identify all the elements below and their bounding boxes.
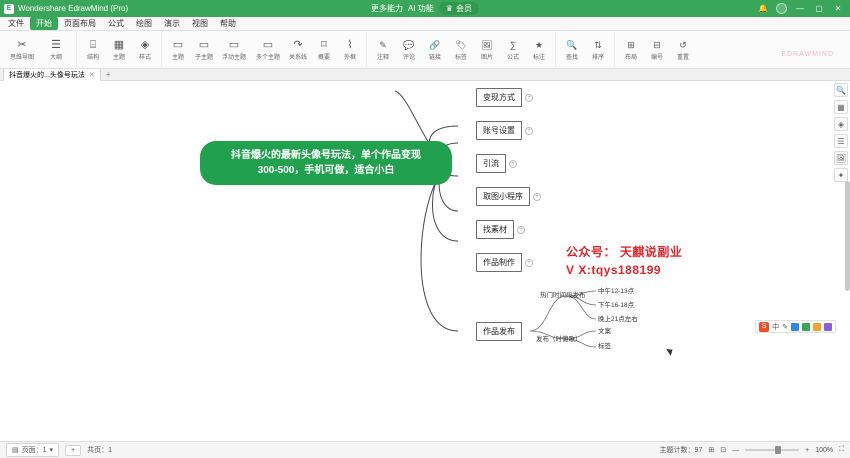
ribbon-label-relation: 关系线 [289,52,307,61]
menu-item-page-layout[interactable]: 页面布局 [58,17,102,30]
multi-topic-icon: ▭ [263,39,273,51]
minimize-button[interactable]: — [794,4,806,13]
ribbon-button-sub-topic[interactable]: ▭ 子主题 [191,32,217,67]
menu-item-draw[interactable]: 绘图 [130,17,158,30]
voice-icon[interactable] [791,323,799,331]
list-icon: ☰ [51,39,61,51]
leaf-peak-time[interactable]: 热门时间段发布 [540,289,586,299]
menu-item-home[interactable]: 开始 [30,17,58,30]
ribbon-button-tag[interactable]: 🏷 标签 [448,32,474,67]
status-bar: ▤ 页面：1 ▾ + 共页：1 主题计数：97 ⊞ ⊡ — + 100% ⛶ [0,441,850,458]
comment-icon: 💬 [403,39,414,51]
node-label: 取图小程序 [483,192,523,201]
view-mode-single-button[interactable]: ⊡ [720,446,726,454]
page-selector[interactable]: ▤ 页面：1 ▾ [6,443,59,457]
view-mode-grid-button[interactable]: ⊞ [708,446,714,454]
leaf-noon[interactable]: 中午12-13点 [598,285,634,295]
expand-icon[interactable]: + [525,94,533,102]
ribbon-label-style: 样式 [139,52,151,61]
app-title: Wondershare EdrawMind (Pro) [18,4,128,13]
add-page-button[interactable]: + [65,445,81,456]
ribbon-label-sort: 排序 [592,52,604,61]
ribbon-button-float-topic[interactable]: ▭ 浮动主题 [217,32,251,67]
align-icon: ⊞ [627,39,635,51]
ribbon-button-layout[interactable]: ⊞ 布局 [618,32,644,67]
leaf-tag[interactable]: 标签 [598,340,611,350]
ribbon-button-find[interactable]: 🔍 查找 [559,32,585,67]
mindmap-canvas[interactable]: 抖音爆火的最新头像号玩法，单个作品变现 300-500，手机可做，适合小白 变现… [0,81,850,441]
page-icon: ▤ [12,446,19,454]
style-panel-icon[interactable]: ◈ [834,117,848,131]
keyboard-icon[interactable] [802,323,810,331]
ribbon-label-comment: 评论 [403,52,415,61]
ribbon-button-relation[interactable]: ↷ 关系线 [285,32,311,67]
tree-icon: ⌸ [90,39,97,51]
ribbon-label-main-topic: 主题 [172,52,184,61]
node-account-settings[interactable]: 账号设置 + [476,121,522,140]
node-publish[interactable]: 作品发布 [476,322,522,341]
zoom-level-label: 100% [815,447,833,454]
summary-icon: ⌇ [347,39,352,51]
ribbon-label-outline: 大纲 [50,52,62,61]
app-logo-icon: E [4,4,14,14]
ribbon-button-note[interactable]: ✎ 注释 [370,32,396,67]
ai-features-link[interactable]: AI 功能 [408,3,434,14]
ribbon-button-boundary[interactable]: ⌇ 外框 [337,32,363,67]
node-traffic[interactable]: 引流 + [476,154,506,173]
zoom-out-button[interactable]: — [732,447,739,454]
node-label: 引流 [483,159,499,168]
node-label: 作品发布 [483,327,515,336]
theme-panel-icon[interactable]: ▦ [834,100,848,114]
ribbon-group-topics: ▭ 主题 ▭ 子主题 ▭ 浮动主题 ▭ 多个主题 ↷ 关系线 ⌑ 概要 ⌇ 外框 [162,32,367,67]
theme-icon: ▦ [114,39,124,51]
mindmap-root-node[interactable]: 抖音爆火的最新头像号玩法，单个作品变现 300-500，手机可做，适合小白 [200,141,452,185]
ribbon-label-formula: 公式 [507,52,519,61]
ribbon-button-sort[interactable]: ⇅ 排序 [585,32,611,67]
image-icon: 🖼 [481,39,492,51]
ai-panel-icon[interactable]: ✦ [834,168,848,182]
more-icon[interactable] [824,323,832,331]
new-tab-button[interactable]: + [101,70,116,79]
expand-icon[interactable]: + [533,193,541,201]
sogou-logo-icon: S [759,322,769,332]
ribbon-label-reset: 重置 [677,52,689,61]
find-icon: 🔍 [566,39,577,51]
document-tab-bar: 抖音爆火的...头像号玩法 ✕ + [0,69,850,81]
search-icon[interactable]: 🔍 [834,83,848,97]
title-bar: E Wondershare EdrawMind (Pro) 更多能力 AI 功能… [0,0,850,17]
ribbon-label-boundary: 外框 [344,52,356,61]
ribbon-button-marker[interactable]: ★ 标注 [526,32,552,67]
status-bar-right: 主题计数：97 ⊞ ⊡ — + 100% ⛶ [660,445,844,455]
vertical-scrollbar[interactable] [845,181,850,291]
ribbon-button-theme[interactable]: ▦ 主题 [106,32,132,67]
sort-icon: ⇅ [594,39,602,51]
node-production[interactable]: 作品制作 + [476,253,522,272]
ribbon-button-image[interactable]: 🖼 图片 [474,32,500,67]
membership-label: 会员 [456,3,472,14]
ribbon-group-layout: ⊞ 布局 ⊟ 编号 ↺ 重置 [615,32,699,67]
membership-button[interactable]: ♛ 会员 [439,2,479,15]
expand-icon[interactable]: + [525,259,533,267]
note-icon: ✎ [379,39,387,51]
ime-toolbar: S 中 ✎ [755,320,836,333]
leaf-publish-caption[interactable]: 发布（时懒歌） [536,333,582,343]
main-topic-icon: ▭ [173,39,183,51]
ribbon-label-find: 查找 [566,52,578,61]
expand-icon[interactable]: + [525,127,533,135]
node-label: 找素材 [483,225,507,234]
menu-bar: 文件 开始 页面布局 公式 绘图 演示 视图 帮助 [0,17,850,31]
maximize-button[interactable]: ▢ [813,4,825,13]
ribbon-button-number[interactable]: ⊟ 编号 [644,32,670,67]
menu-item-file[interactable]: 文件 [2,17,30,30]
handwriting-icon[interactable]: ✎ [782,323,788,331]
ribbon-label-sub-topic: 子主题 [195,52,213,61]
reset-icon: ↺ [679,39,687,51]
ribbon-label-link: 链接 [429,52,441,61]
ribbon-button-reset[interactable]: ↺ 重置 [670,32,696,67]
ribbon-button-summary[interactable]: ⌑ 概要 [311,32,337,67]
ribbon-label-float-topic: 浮动主题 [222,52,246,61]
ime-mode-label[interactable]: 中 [772,322,779,332]
promo-line-1: 公众号： 天麒说副业 [566,243,682,261]
ribbon-button-link[interactable]: 🔗 链接 [422,32,448,67]
menu-item-formula[interactable]: 公式 [102,17,130,30]
ribbon-label-tag: 标签 [455,52,467,61]
ribbon-button-style[interactable]: ◈ 样式 [132,32,158,67]
ribbon-label-theme: 主题 [113,52,125,61]
chevron-down-icon[interactable]: ▾ [50,446,54,454]
float-topic-icon: ▭ [229,39,239,51]
ribbon-watermark: EDRAWMIND [781,51,834,58]
leaf-copy[interactable]: 文案 [598,325,611,335]
word-count-label: 主题计数：97 [660,445,703,455]
ribbon-button-structure[interactable]: ⌸ 结构 [80,32,106,67]
expand-icon[interactable]: + [509,160,517,168]
ribbon-label-mindmap: 思维导图 [10,52,34,61]
promo-watermark: 公众号： 天麒说副业 V X:tqys188199 [566,243,682,279]
link-icon: 🔗 [429,39,440,51]
fit-to-screen-button[interactable]: ⛶ [839,446,844,454]
page-count-label: 共页：1 [87,445,112,455]
leaf-afternoon[interactable]: 下午16-18点 [598,299,634,309]
group-icon: ⊟ [653,39,661,51]
node-label: 变现方式 [483,93,515,102]
root-line-1: 抖音爆火的最新头像号玩法，单个作品变现 [214,148,438,163]
title-bar-center: 更多能力 AI 功能 ♛ 会员 [371,2,479,15]
node-find-material[interactable]: 找素材 + [476,220,514,239]
avatar[interactable] [776,3,787,14]
bell-icon[interactable]: 🔔 [757,4,769,13]
ribbon-button-formula[interactable]: ∑ 公式 [500,32,526,67]
promo-line-2: V X:tqys188199 [566,261,682,279]
node-image-miniprogram[interactable]: 取图小程序 + [476,187,530,206]
tag-icon: 🏷 [455,39,466,51]
menu-item-help[interactable]: 帮助 [214,17,242,30]
ribbon-label-number: 编号 [651,52,663,61]
ribbon-button-mindmap[interactable]: ✂ 思维导图 [5,32,39,67]
ribbon-label-structure: 结构 [87,52,99,61]
ribbon-label-layout: 布局 [625,52,637,61]
close-icon[interactable]: ✕ [89,71,95,79]
root-line-2: 300-500，手机可做，适合小白 [214,163,438,178]
relation-icon: ↷ [293,39,302,51]
ribbon-button-multi-topic[interactable]: ▭ 多个主题 [251,32,285,67]
crown-icon: ♛ [446,4,453,13]
node-label: 作品制作 [483,258,515,267]
outline-panel-icon[interactable]: ☰ [834,134,848,148]
ribbon-label-multi-topic: 多个主题 [256,52,280,61]
ribbon-button-outline[interactable]: ☰ 大纲 [39,32,73,67]
more-features-link[interactable]: 更多能力 [371,3,403,14]
title-bar-left: E Wondershare EdrawMind (Pro) [0,4,128,14]
ribbon-label-summary: 概要 [318,52,330,61]
ribbon-group-tools: 🔍 查找 ⇅ 排序 [556,32,615,67]
ribbon-button-main-topic[interactable]: ▭ 主题 [165,32,191,67]
node-label: 账号设置 [483,126,515,135]
node-monetization[interactable]: 变现方式 + [476,88,522,107]
document-tab[interactable]: 抖音爆火的...头像号玩法 ✕ [3,68,101,81]
right-toolbar: 🔍 ▦ ◈ ☰ 🖼 ✦ [834,83,848,182]
ribbon-button-comment[interactable]: 💬 评论 [396,32,422,67]
sub-topic-icon: ▭ [199,39,209,51]
leaf-evening[interactable]: 晚上21点左右 [598,313,638,323]
zoom-slider[interactable] [745,449,799,451]
zoom-in-button[interactable]: + [805,447,809,454]
boundary-icon: ⌑ [321,39,327,51]
ribbon-label-image: 图片 [481,52,493,61]
globe-icon[interactable] [813,323,821,331]
ribbon-toolbar: ✂ 思维导图 ☰ 大纲 ⌸ 结构 ▦ 主题 ◈ 样式 ▭ 主题 ▭ 子主题 [0,31,850,69]
close-button[interactable]: ✕ [832,4,844,13]
expand-icon[interactable]: + [517,226,525,234]
mindmap-connectors [0,81,850,441]
marker-icon: ★ [535,39,543,51]
scissors-icon: ✂ [17,39,26,51]
page-selector-label: 页面：1 [22,445,47,455]
document-tab-label: 抖音爆火的...头像号玩法 [9,70,85,80]
menu-item-view[interactable]: 视图 [186,17,214,30]
title-bar-right: 🔔 — ▢ ✕ [757,3,850,14]
ribbon-label-note: 注释 [377,52,389,61]
formula-icon: ∑ [510,39,516,51]
menu-item-present[interactable]: 演示 [158,17,186,30]
ribbon-group-structure: ⌸ 结构 ▦ 主题 ◈ 样式 [77,32,162,67]
ribbon-group-insert: ✎ 注释 💬 评论 🔗 链接 🏷 标签 🖼 图片 ∑ 公式 ★ 标注 [367,32,556,67]
ribbon-label-marker: 标注 [533,52,545,61]
style-icon: ◈ [141,39,149,51]
ribbon-group-clipboard: ✂ 思维导图 ☰ 大纲 [2,32,77,67]
image-panel-icon[interactable]: 🖼 [834,151,848,165]
